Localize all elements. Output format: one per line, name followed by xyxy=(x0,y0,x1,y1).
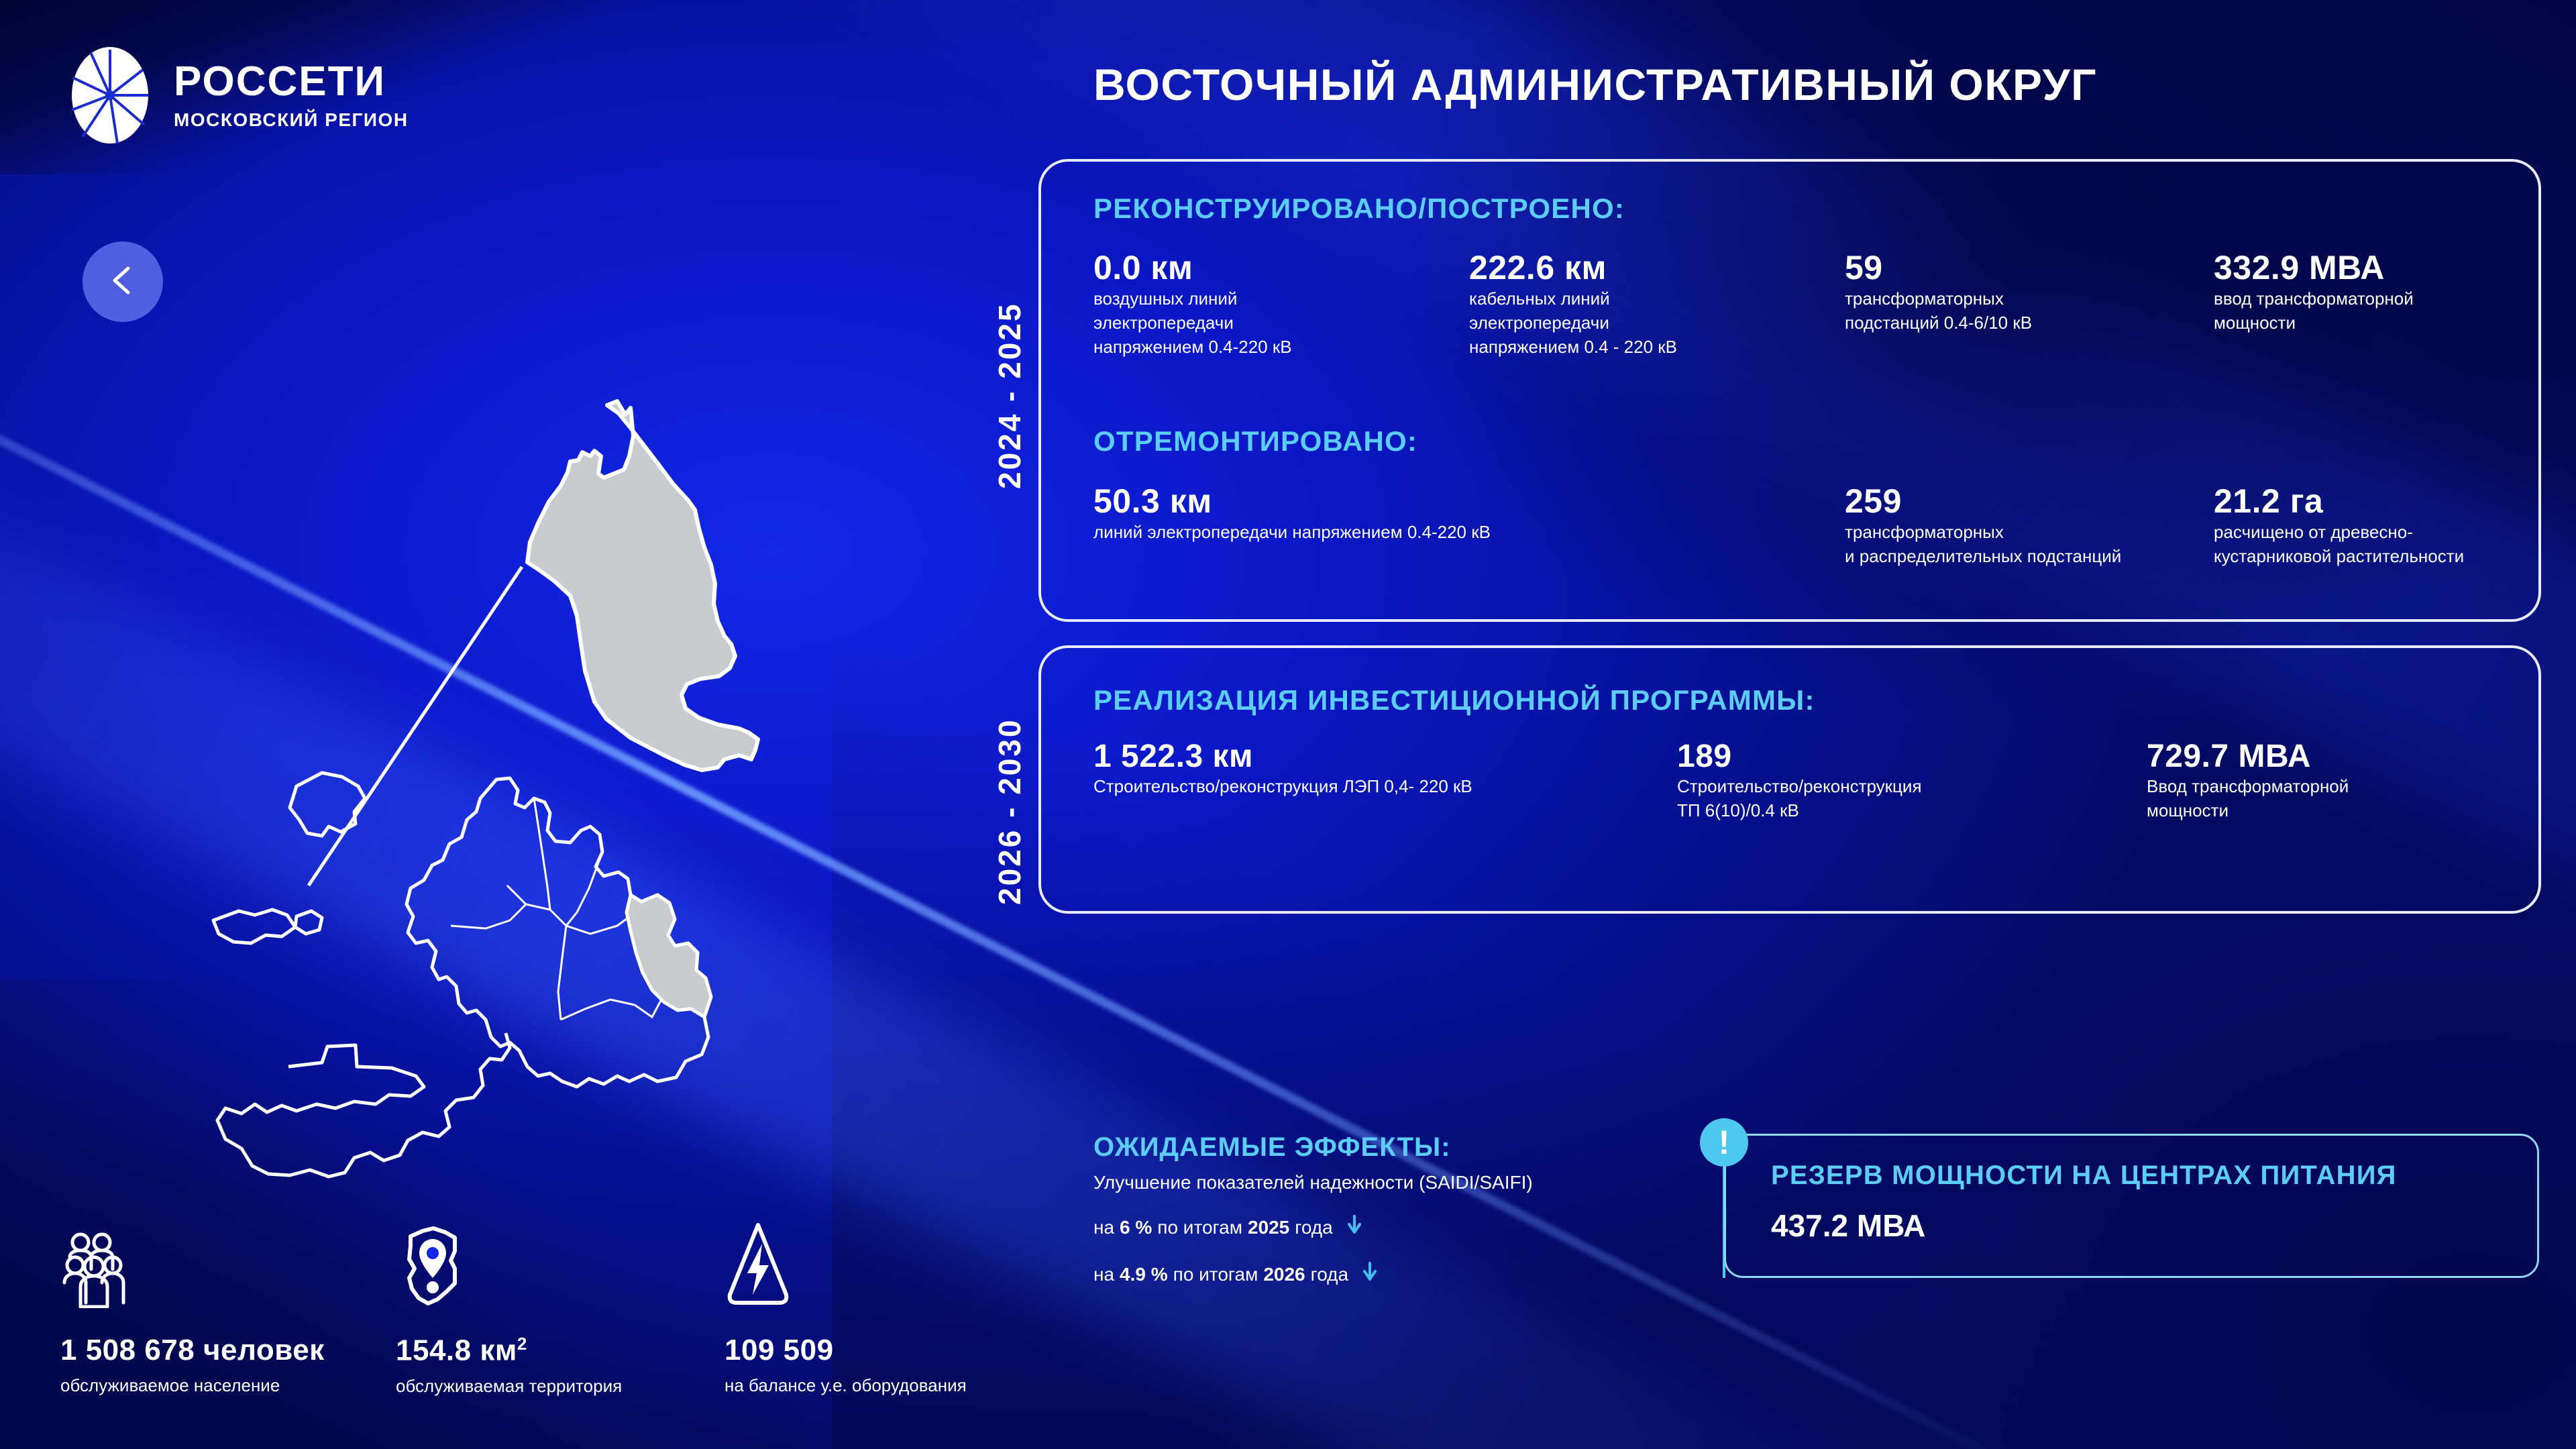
period-label-2026-2030: 2026 - 2030 xyxy=(991,671,1028,953)
map-pin-area-icon xyxy=(396,1201,724,1308)
stat-repaired-lines: 50.3 км линий электропередачи напряжение… xyxy=(1093,482,1845,569)
stat-label: Строительство/реконструкция ТП 6(10)/0.4… xyxy=(1677,775,2147,823)
effect-suffix: года xyxy=(1311,1264,1348,1285)
effects-heading: ОЖИДАЕМЫЕ ЭФФЕКТЫ: xyxy=(1093,1132,1697,1163)
effect-suffix: года xyxy=(1295,1217,1332,1238)
map-connector-line xyxy=(309,567,522,885)
stat-label: линий электропередачи напряжением 0.4-22… xyxy=(1093,521,1845,545)
stats-row-investment: 1 522.3 км Строительство/реконструкция Л… xyxy=(1093,738,2516,823)
stat-label: расчищено от древесно- кустарниковой рас… xyxy=(2214,521,2516,569)
bottom-stat-label: на балансе у.е. оборудования xyxy=(724,1375,967,1396)
effect-amount: 6 % xyxy=(1120,1217,1152,1238)
stat-value: 21.2 га xyxy=(2214,482,2516,521)
stat-repaired-substations: 259 трансформаторных и распределительных… xyxy=(1845,482,2214,569)
stat-value: 222.6 км xyxy=(1469,248,1845,287)
stat-cable-lines: 222.6 км кабельных линий электропередачи… xyxy=(1469,248,1845,360)
region-map[interactable] xyxy=(40,174,966,1181)
bottom-stat-value: 154.8 км2 xyxy=(396,1334,724,1368)
stat-air-lines: 0.0 км воздушных линий электропередачи н… xyxy=(1093,248,1469,360)
effect-line-2025: на 6 % по итогам 2025 года xyxy=(1093,1215,1697,1240)
bottom-stat-value-text: 154.8 км xyxy=(396,1334,517,1367)
rosseti-logo-icon xyxy=(70,46,150,145)
brand-logo[interactable]: РОССЕТИ МОСКОВСКИЙ РЕГИОН xyxy=(70,46,409,145)
stat-transformer-substations: 59 трансформаторных подстанций 0.4-6/10 … xyxy=(1845,248,2214,360)
reserve-title: РЕЗЕРВ МОЩНОСТИ НА ЦЕНТРАХ ПИТАНИЯ xyxy=(1771,1161,2397,1191)
bottom-stat-value: 109 509 xyxy=(724,1334,967,1367)
effect-prefix: на xyxy=(1093,1217,1114,1238)
exclamation-icon: ! xyxy=(1700,1118,1748,1167)
effects-subtitle: Улучшение показателей надежности (SAIDI/… xyxy=(1093,1172,1697,1193)
stat-line-construction: 1 522.3 км Строительство/реконструкция Л… xyxy=(1093,738,1677,823)
effect-amount: 4.9 % xyxy=(1120,1264,1168,1285)
stat-label: кабельных линий электропередачи напряжен… xyxy=(1469,287,1845,360)
map-district-highlight-small xyxy=(627,895,711,1017)
bottom-stat-territory: 154.8 км2 обслуживаемая территория xyxy=(396,1201,724,1397)
people-group-icon xyxy=(60,1201,396,1308)
section-heading-repaired: ОТРЕМОНТИРОВАНО: xyxy=(1093,425,1417,458)
arrow-down-icon xyxy=(1362,1262,1378,1287)
effect-line-2026: на 4.9 % по итогам 2026 года xyxy=(1093,1262,1697,1287)
stat-transformer-capacity: 332.9 МВА ввод трансформаторной мощности xyxy=(2214,248,2516,360)
bottom-stat-value-sup: 2 xyxy=(517,1334,527,1354)
bottom-stat-label: обслуживаемое население xyxy=(60,1375,396,1396)
stat-label: Строительство/реконструкция ЛЭП 0,4- 220… xyxy=(1093,775,1677,799)
expected-effects-block: ОЖИДАЕМЫЕ ЭФФЕКТЫ: Улучшение показателей… xyxy=(1093,1132,1697,1287)
effect-prefix: на xyxy=(1093,1264,1114,1285)
effect-middle: по итогам xyxy=(1173,1264,1258,1285)
effect-year: 2026 xyxy=(1263,1264,1305,1285)
map-district-highlight-enlarged xyxy=(527,401,758,770)
stat-value: 0.0 км xyxy=(1093,248,1469,287)
arrow-down-icon xyxy=(1346,1215,1362,1240)
brand-subtitle: МОСКОВСКИЙ РЕГИОН xyxy=(174,111,409,129)
map-south-districts xyxy=(217,1033,510,1177)
bottom-stat-label: обслуживаемая территория xyxy=(396,1376,724,1397)
stat-value: 189 xyxy=(1677,738,2147,775)
stat-value: 59 xyxy=(1845,248,2214,287)
exclamation-glyph: ! xyxy=(1719,1126,1730,1159)
bottom-stat-value: 1 508 678 человек xyxy=(60,1334,396,1367)
bottom-stat-population: 1 508 678 человек обслуживаемое населени… xyxy=(60,1201,396,1397)
stat-future-capacity: 729.7 МВА Ввод трансформаторной мощности xyxy=(2147,738,2449,823)
stat-value: 332.9 МВА xyxy=(2214,248,2516,287)
stat-value: 259 xyxy=(1845,482,2214,521)
stat-value: 729.7 МВА xyxy=(2147,738,2449,775)
stat-value: 50.3 км xyxy=(1093,482,1845,521)
section-heading-reconstructed: РЕКОНСТРУИРОВАНО/ПОСТРОЕНО: xyxy=(1093,193,1625,225)
lightning-bolt-icon xyxy=(724,1201,967,1308)
period-label-2024-2025: 2024 - 2025 xyxy=(991,255,1028,537)
brand-text: РОССЕТИ МОСКОВСКИЙ РЕГИОН xyxy=(174,61,409,129)
brand-name: РОССЕТИ xyxy=(174,61,409,103)
stat-label: воздушных линий электропередачи напряжен… xyxy=(1093,287,1469,360)
stat-tp-construction: 189 Строительство/реконструкция ТП 6(10)… xyxy=(1677,738,2147,823)
stat-cleared-vegetation: 21.2 га расчищено от древесно- кустарник… xyxy=(2214,482,2516,569)
effect-year: 2025 xyxy=(1248,1217,1289,1238)
page-title: ВОСТОЧНЫЙ АДМИНИСТРАТИВНЫЙ ОКРУГ xyxy=(1093,59,2097,110)
stat-label: ввод трансформаторной мощности xyxy=(2214,287,2516,335)
reserve-value: 437.2 МВА xyxy=(1771,1207,1925,1244)
bottom-stat-equipment: 109 509 на балансе у.е. оборудования xyxy=(724,1201,967,1397)
stats-row-repaired: 50.3 км линий электропередачи напряжение… xyxy=(1093,482,2516,569)
stat-label: трансформаторных и распределительных под… xyxy=(1845,521,2214,569)
stat-label: трансформаторных подстанций 0.4-6/10 кВ xyxy=(1845,287,2214,335)
bottom-stats-row: 1 508 678 человек обслуживаемое населени… xyxy=(60,1201,1067,1397)
section-heading-investment-program: РЕАЛИЗАЦИЯ ИНВЕСТИЦИОННОЙ ПРОГРАММЫ: xyxy=(1093,684,1815,716)
stat-label: Ввод трансформаторной мощности xyxy=(2147,775,2449,823)
stat-value: 1 522.3 км xyxy=(1093,738,1677,775)
stats-row-reconstructed: 0.0 км воздушных линий электропередачи н… xyxy=(1093,248,2516,360)
effect-middle: по итогам xyxy=(1157,1217,1242,1238)
reserve-capacity-card xyxy=(1724,1134,2539,1278)
